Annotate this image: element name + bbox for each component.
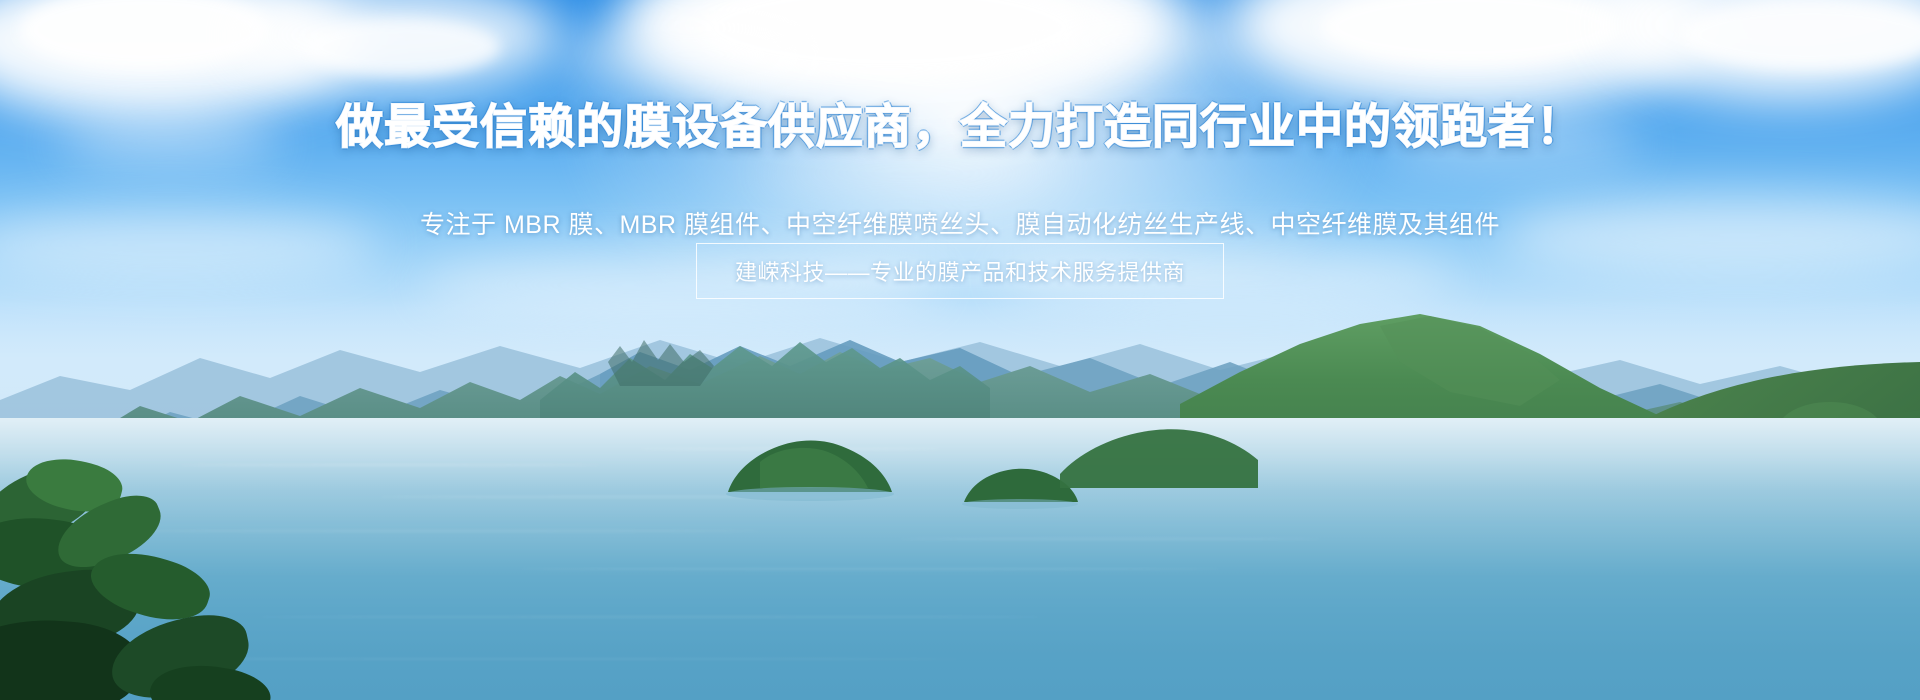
banner-text-overlay: 做最受信赖的膜设备供应商，全力打造同行业中的领跑者！ 专注于 MBR 膜、MBR… <box>0 0 1920 700</box>
banner-tagline-box: 建嵘科技——专业的膜产品和技术服务提供商 <box>696 243 1224 299</box>
hero-banner: 做最受信赖的膜设备供应商，全力打造同行业中的领跑者！ 专注于 MBR 膜、MBR… <box>0 0 1920 700</box>
banner-headline: 做最受信赖的膜设备供应商，全力打造同行业中的领跑者！ <box>0 100 1920 156</box>
banner-subtitle: 专注于 MBR 膜、MBR 膜组件、中空纤维膜喷丝头、膜自动化纺丝生产线、中空纤… <box>0 208 1920 242</box>
